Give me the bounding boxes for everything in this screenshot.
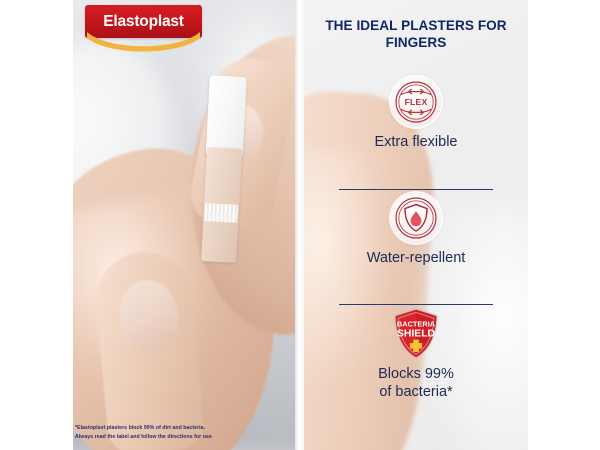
panel-divider bbox=[295, 0, 304, 450]
feature-extra-flexible: FLEX Extra flexible bbox=[304, 76, 528, 151]
plaster-wound-pad bbox=[204, 203, 238, 223]
feature-divider-1 bbox=[339, 189, 493, 190]
feature-2-badge-wrap bbox=[304, 192, 528, 244]
elastoplast-logo: Elastoplast bbox=[85, 5, 202, 57]
plaster-backing-paper bbox=[206, 75, 247, 157]
feature-bacteria-shield: BACTERIA SHIELD Blocks 99% of bacteria* bbox=[304, 308, 528, 401]
fine-print-line-1: *Elastoplast plasters block 99% of dirt … bbox=[75, 424, 291, 433]
product-photo-panel: Elastoplast *Elastoplast plasters block … bbox=[73, 0, 295, 450]
bacteria-shield-line2: SHIELD bbox=[397, 328, 436, 339]
features-content: THE IDEAL PLASTERS FOR FINGERS bbox=[304, 0, 528, 450]
feature-3-badge-wrap: BACTERIA SHIELD bbox=[304, 308, 528, 360]
product-ad-card: Elastoplast *Elastoplast plasters block … bbox=[73, 0, 528, 450]
fine-print-line-2: Always read the label and follow the dir… bbox=[75, 433, 291, 442]
feature-3-label-line-2: of bacteria* bbox=[304, 383, 528, 401]
ad-canvas: Elastoplast *Elastoplast plasters block … bbox=[0, 0, 600, 450]
bacteria-shield-line1: BACTERIA bbox=[397, 320, 436, 329]
feature-divider-2 bbox=[339, 304, 493, 305]
bacteria-shield-icon: BACTERIA SHIELD bbox=[391, 306, 441, 362]
feature-3-label-line-1: Blocks 99% bbox=[304, 365, 528, 383]
feature-1-badge-wrap: FLEX bbox=[304, 76, 528, 128]
feature-2-label: Water-repellent bbox=[304, 249, 528, 267]
legal-fine-print: *Elastoplast plasters block 99% of dirt … bbox=[75, 424, 291, 442]
feature-3-label: Blocks 99% of bacteria* bbox=[304, 365, 528, 401]
headline: THE IDEAL PLASTERS FOR FINGERS bbox=[314, 17, 518, 51]
feature-water-repellent: Water-repellent bbox=[304, 192, 528, 267]
svg-text:FLEX: FLEX bbox=[405, 97, 428, 107]
feature-1-label: Extra flexible bbox=[304, 133, 528, 151]
flex-badge-icon: FLEX bbox=[391, 77, 441, 127]
logo-swoosh-icon bbox=[85, 31, 202, 53]
features-panel: THE IDEAL PLASTERS FOR FINGERS bbox=[304, 0, 528, 450]
water-droplet-shield-icon bbox=[391, 193, 441, 243]
logo-wordmark: Elastoplast bbox=[103, 13, 184, 31]
